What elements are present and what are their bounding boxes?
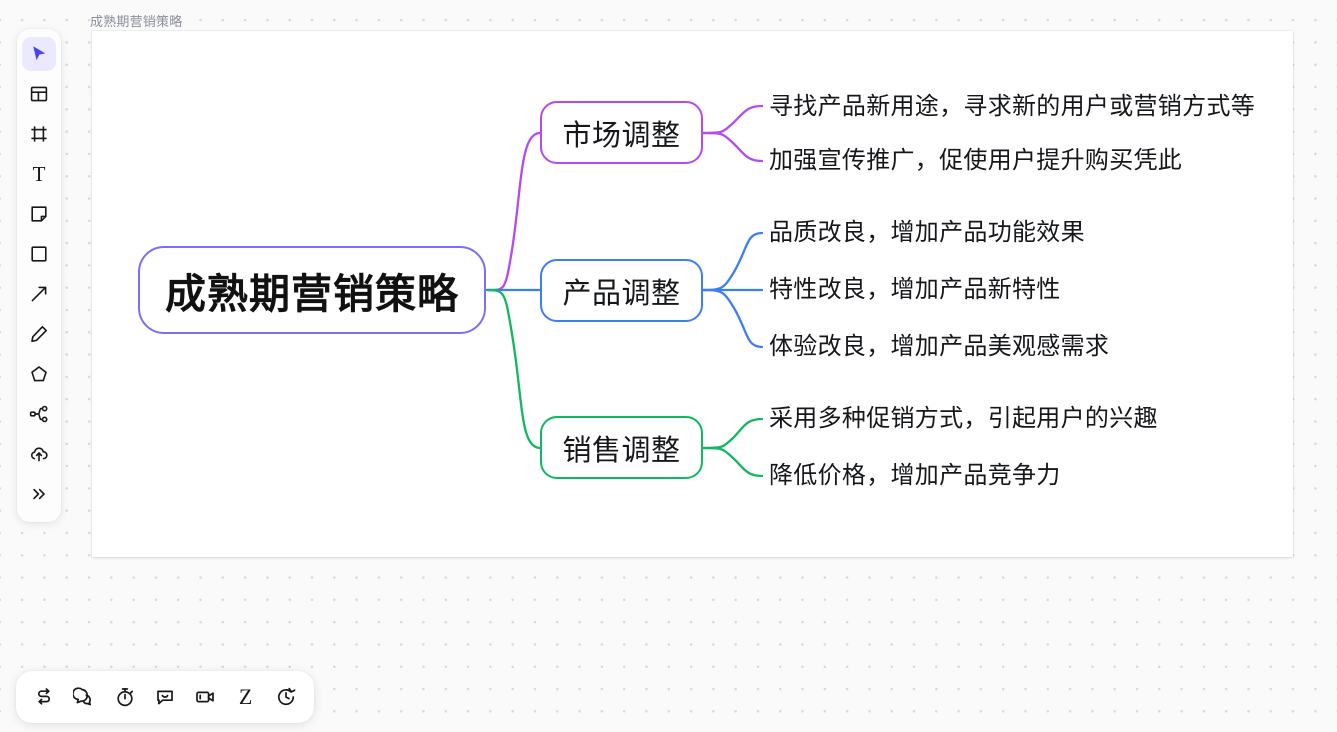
upload-cloud-icon [29, 444, 49, 464]
pentagon-icon [29, 364, 49, 384]
bottom-tool-video[interactable] [190, 682, 220, 712]
mindmap-branch-product[interactable]: 产品调整 [540, 259, 703, 322]
mindmap-node-icon [29, 404, 49, 424]
text-icon: T [33, 164, 46, 185]
tool-template-layout[interactable] [22, 77, 56, 111]
letter-z-icon: Z [239, 686, 252, 708]
bottom-tool-comment[interactable] [150, 682, 180, 712]
pen-icon [29, 324, 49, 344]
tool-sticky-note[interactable] [22, 197, 56, 231]
tool-frame[interactable] [22, 117, 56, 151]
mindmap-leaf[interactable]: 寻找产品新用途，寻求新的用户或营销方式等 [769, 95, 1255, 119]
sticky-note-icon [29, 204, 49, 224]
mindmap-leaf[interactable]: 采用多种促销方式，引起用户的兴趣 [769, 407, 1158, 431]
whiteboard-canvas[interactable]: 成熟期营销策略 成熟期营销策略 市场调整 产品调整 [0, 0, 1337, 732]
tool-shape-pentagon[interactable] [22, 357, 56, 391]
mindmap-branch-sales[interactable]: 销售调整 [540, 416, 703, 479]
tool-upload[interactable] [22, 437, 56, 471]
bottom-toolbar[interactable]: Z [16, 671, 314, 723]
left-toolbar[interactable]: T [17, 29, 61, 522]
rectangle-icon [29, 244, 49, 264]
select-cursor-icon [29, 44, 49, 64]
mindmap-branch-market[interactable]: 市场调整 [540, 101, 703, 164]
chat-bubbles-icon [73, 686, 95, 708]
tool-pen[interactable] [22, 317, 56, 351]
mindmap-leaf[interactable]: 体验改良，增加产品美观感需求 [769, 335, 1109, 359]
tool-more[interactable] [22, 477, 56, 511]
frame-icon [29, 124, 49, 144]
tool-text[interactable]: T [22, 157, 56, 191]
mindmap-branch-label: 市场调整 [562, 112, 680, 154]
chevron-double-right-icon [29, 484, 49, 504]
mindmap-leaf[interactable]: 特性改良，增加产品新特性 [769, 278, 1061, 302]
tool-line-arrow[interactable] [22, 277, 56, 311]
timer-icon [114, 686, 136, 708]
mindmap-branch-label: 产品调整 [562, 270, 680, 312]
mindmap-branch-label: 销售调整 [562, 427, 680, 469]
mindmap-root-node[interactable]: 成熟期营销策略 [138, 246, 486, 334]
bottom-tool-zoom-z[interactable]: Z [231, 682, 261, 712]
bottom-tool-timer[interactable] [110, 682, 140, 712]
tool-select-cursor[interactable] [22, 37, 56, 71]
line-arrow-icon [29, 284, 49, 304]
video-camera-icon [194, 686, 216, 708]
bottom-tool-history[interactable] [271, 682, 301, 712]
mindmap-leaf[interactable]: 品质改良，增加产品功能效果 [769, 221, 1085, 245]
tool-rectangle[interactable] [22, 237, 56, 271]
history-clock-icon [275, 686, 297, 708]
bottom-tool-chat[interactable] [69, 682, 99, 712]
frame-label[interactable]: 成熟期营销策略 [90, 11, 182, 30]
template-layout-icon [29, 84, 49, 104]
flow-s-icon [33, 686, 55, 708]
mindmap-root-label: 成熟期营销策略 [165, 260, 459, 320]
mindmap-leaf[interactable]: 降低价格，增加产品竞争力 [769, 464, 1061, 488]
bottom-tool-flow-s[interactable] [29, 682, 59, 712]
tool-mindmap-node[interactable] [22, 397, 56, 431]
comment-icon [154, 686, 176, 708]
mindmap-leaf[interactable]: 加强宣传推广，促使用户提升购买凭此 [769, 149, 1182, 173]
